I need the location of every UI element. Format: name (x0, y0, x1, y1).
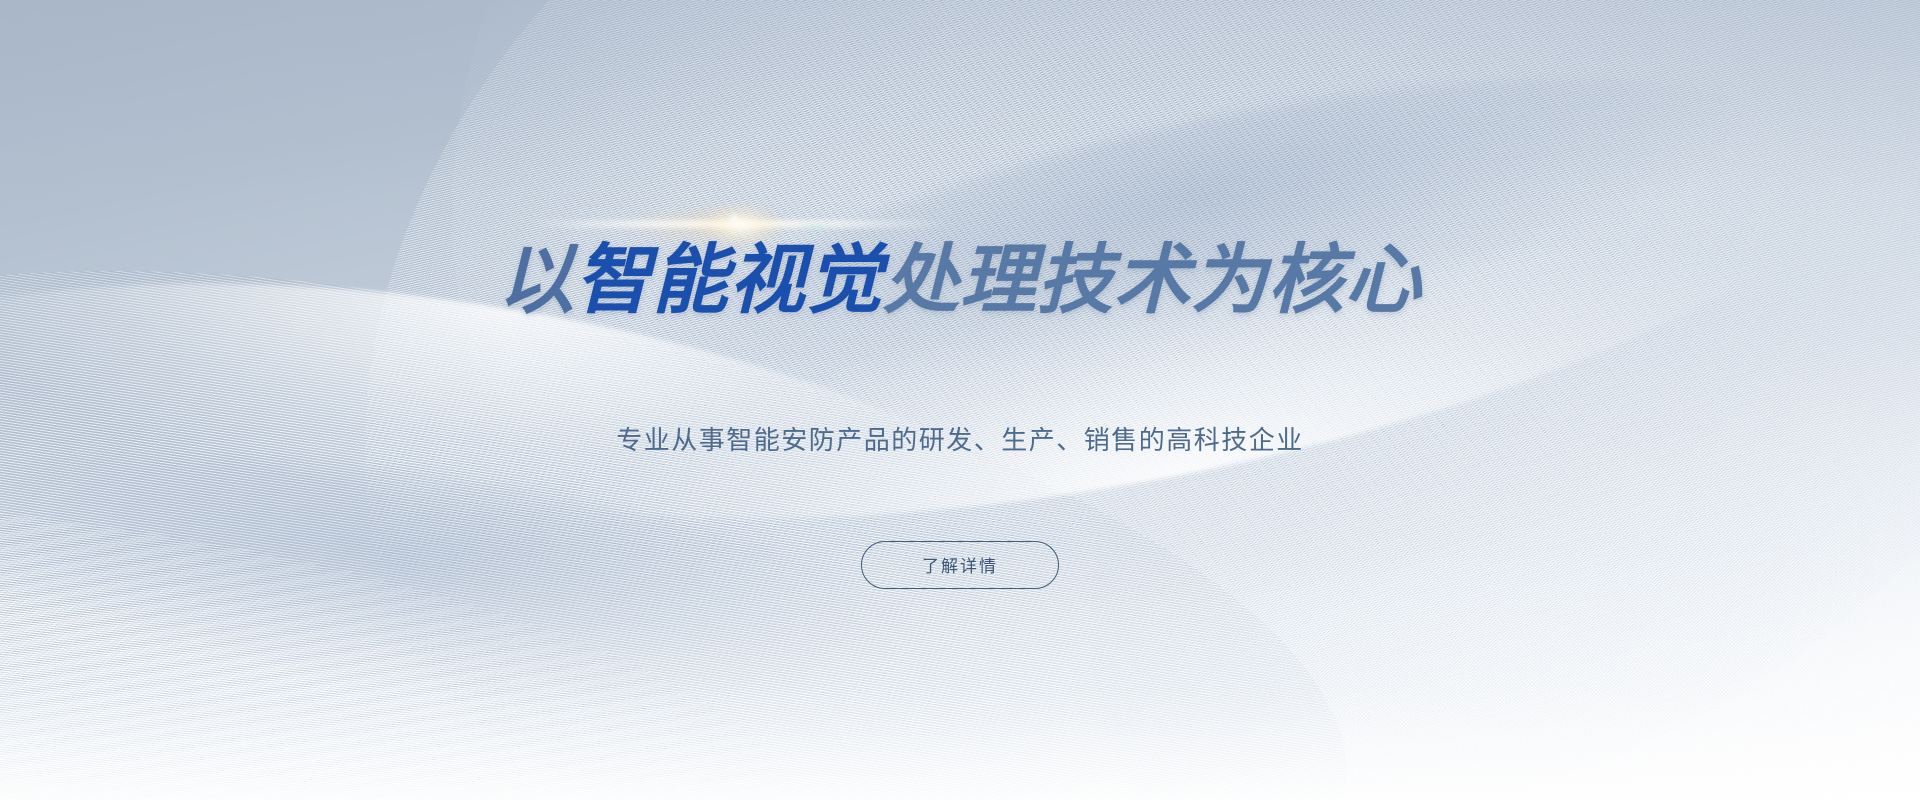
hero-banner: 以智能视觉处理技术为核心 专业从事智能安防产品的研发、生产、销售的高科技企业 了… (0, 0, 1920, 800)
hero-subtitle: 专业从事智能安防产品的研发、生产、销售的高科技企业 (616, 427, 1304, 453)
learn-more-button-label: 了解详情 (922, 552, 998, 577)
learn-more-button[interactable]: 了解详情 (861, 541, 1059, 589)
headline-part-2: 智能视觉 (575, 235, 883, 324)
hero-content: 以智能视觉处理技术为核心 专业从事智能安防产品的研发、生产、销售的高科技企业 了… (0, 0, 1920, 800)
page-title: 以智能视觉处理技术为核心 (498, 242, 1422, 318)
headline-part-3: 处理技术为核心 (883, 235, 1422, 324)
headline-part-1: 以 (498, 235, 575, 324)
